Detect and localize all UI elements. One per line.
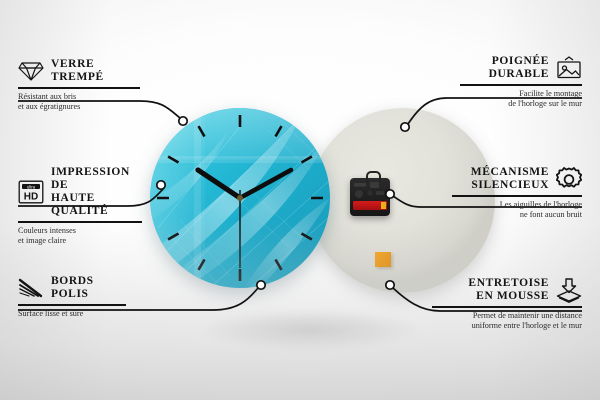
battery-plus-terminal — [381, 202, 386, 209]
product-ground-shadow — [150, 300, 470, 360]
feature-title-line2: TREMPÉ — [51, 71, 104, 84]
title-rule — [452, 195, 582, 197]
mechanism-detail — [350, 178, 390, 216]
feature-title-line2: HAUTE QUALITÉ — [51, 192, 142, 218]
feature-title-line1: POIGNÉE — [489, 55, 549, 68]
feature-description: Permet de maintenir une distance uniform… — [432, 311, 582, 331]
title-rule — [18, 87, 140, 89]
title-rule — [460, 84, 582, 86]
hands-center-cap — [237, 195, 243, 201]
feature-title-line2: POLIS — [51, 288, 94, 301]
feature-title-line1: BORDS — [51, 275, 94, 288]
feature-description: Couleurs intenses et image claire — [18, 226, 142, 246]
infographic-canvas: VERRE TREMPÉ Résistant aux bris et aux é… — [0, 0, 600, 400]
gear-icon — [556, 167, 582, 192]
clock-hands — [198, 170, 291, 268]
feature-title-line1: ENTRETOISE — [468, 277, 549, 290]
feature-title-line1: IMPRESSION DE — [51, 166, 142, 192]
feature-title-line2: DURABLE — [489, 68, 549, 81]
polished-edges-icon — [18, 277, 44, 299]
feature-poignee-durable: POIGNÉE DURABLE Facilite le montage de l… — [460, 55, 582, 109]
foam-spacer-sample — [375, 252, 391, 267]
hour-hand — [198, 170, 240, 198]
title-rule — [432, 306, 582, 308]
feature-description: Surface lisse et sûre — [18, 309, 126, 319]
feature-mecanisme-silencieux: MÉCANISME SILENCIEUX Les aiguilles de l'… — [452, 166, 582, 220]
feature-title-line2: SILENCIEUX — [471, 179, 549, 192]
mechanism-hanger-loop — [366, 171, 381, 182]
feature-title-line1: MÉCANISME — [471, 166, 549, 179]
feature-impression-haute-qualite: ultra HD IMPRESSION DE HAUTE QUALITÉ Cou… — [18, 166, 142, 246]
foam-spacer-icon — [556, 278, 582, 303]
title-rule — [18, 221, 142, 223]
wall-hanger-icon — [556, 56, 582, 80]
minute-hand — [240, 170, 291, 198]
feature-description: Résistant aux bris et aux égratignures — [18, 92, 140, 112]
clock-battery — [353, 201, 387, 210]
diamond-icon — [18, 60, 44, 82]
feature-entretoise-en-mousse: ENTRETOISE EN MOUSSE Permet de maintenir… — [432, 277, 582, 331]
clock-front-face — [150, 108, 330, 288]
feature-description: Facilite le montage de l'horloge sur le … — [460, 89, 582, 109]
svg-text:HD: HD — [24, 191, 38, 202]
clock-mechanism-box — [350, 178, 390, 216]
ultra-hd-icon: ultra HD — [18, 180, 44, 204]
feature-verre-trempe: VERRE TREMPÉ Résistant aux bris et aux é… — [18, 58, 140, 112]
feature-bords-polis: BORDS POLIS Surface lisse et sûre — [18, 275, 126, 319]
feature-title-line1: VERRE — [51, 58, 104, 71]
svg-text:ultra: ultra — [27, 184, 36, 189]
feature-description: Les aiguilles de l'horloge ne font aucun… — [452, 200, 582, 220]
clock-dial — [150, 108, 330, 288]
feature-title-line2: EN MOUSSE — [468, 290, 549, 303]
title-rule — [18, 304, 126, 306]
